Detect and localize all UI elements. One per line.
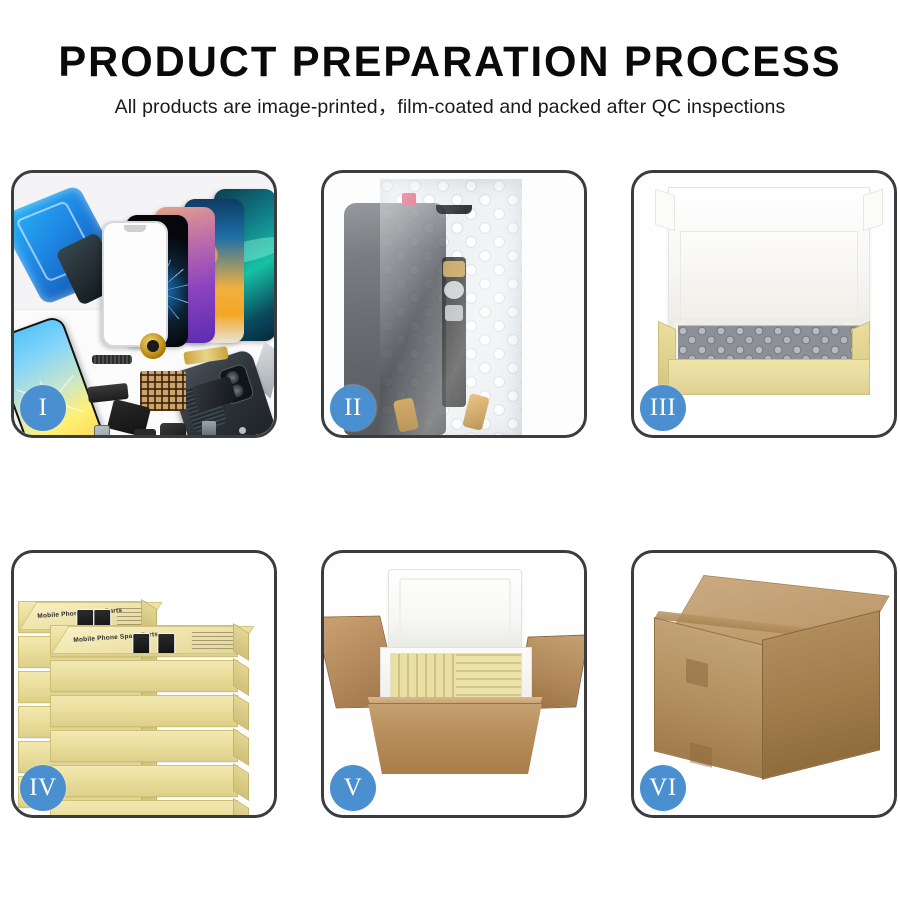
packed-boxes-column-right — [456, 654, 521, 702]
screw-icon — [239, 427, 246, 434]
box-stack-front: Mobile Phone Spare Parts — [50, 625, 238, 815]
retail-box: Mobile Phone Spare Parts — [50, 625, 238, 657]
connector-round-icon — [444, 281, 464, 299]
process-step-grid: I II — [11, 170, 891, 818]
box-print-phone-icon — [132, 633, 150, 654]
process-step-2[interactable]: II — [321, 170, 587, 438]
step-badge-1: I — [20, 385, 66, 431]
carton-tape-patch-icon — [686, 658, 708, 687]
flex-ribbon-icon — [442, 257, 466, 407]
step-badge-6: VI — [640, 765, 686, 811]
retail-box — [50, 730, 238, 762]
styrofoam-lid-icon — [388, 569, 522, 653]
grey-foam-icon — [678, 325, 860, 360]
screen-notch-icon — [436, 205, 472, 214]
step-badge-5: V — [330, 765, 376, 811]
box-front-icon — [668, 359, 870, 395]
process-step-1[interactable]: I — [11, 170, 277, 438]
connector-gold-icon — [443, 261, 465, 277]
carton-front-icon — [368, 703, 542, 774]
step-badge-3: III — [640, 385, 686, 431]
chip-grid-icon — [140, 371, 186, 411]
page-subtitle: All products are image-printed，film-coat… — [0, 97, 900, 118]
glass-panel-icon — [102, 221, 168, 347]
speaker-mesh-icon — [92, 355, 132, 364]
box-print-phone-icon — [158, 633, 176, 654]
camera-lens-ring-icon — [140, 333, 166, 359]
retail-box — [50, 765, 238, 797]
retail-box-top-face: Mobile Phone Spare Parts — [51, 626, 254, 654]
button-part-icon — [134, 429, 156, 435]
step-badge-2: II — [330, 385, 376, 431]
packed-boxes-column-left — [391, 654, 456, 702]
retail-box — [50, 695, 238, 727]
process-step-4[interactable]: Mobile Phone Spare Parts Mobile Phone — [11, 550, 277, 818]
page-header: PRODUCT PREPARATION PROCESS All products… — [0, 0, 900, 119]
speaker-module-icon — [160, 423, 186, 435]
process-step-6[interactable]: VI — [631, 550, 897, 818]
retail-box — [50, 800, 238, 815]
process-step-5[interactable]: V — [321, 550, 587, 818]
sim-tray-icon — [94, 425, 110, 435]
connector-square-icon — [445, 305, 463, 321]
carton-right-face-icon — [762, 610, 880, 779]
packed-boxes-icon — [390, 653, 522, 703]
pink-sticker-icon — [402, 193, 416, 205]
battery-connector-icon — [202, 421, 216, 435]
process-step-3[interactable]: III — [631, 170, 897, 438]
page-title: PRODUCT PREPARATION PROCESS — [14, 40, 887, 85]
retail-box — [50, 660, 238, 692]
step-badge-4: IV — [20, 765, 66, 811]
box-lid-face-icon — [680, 231, 858, 319]
